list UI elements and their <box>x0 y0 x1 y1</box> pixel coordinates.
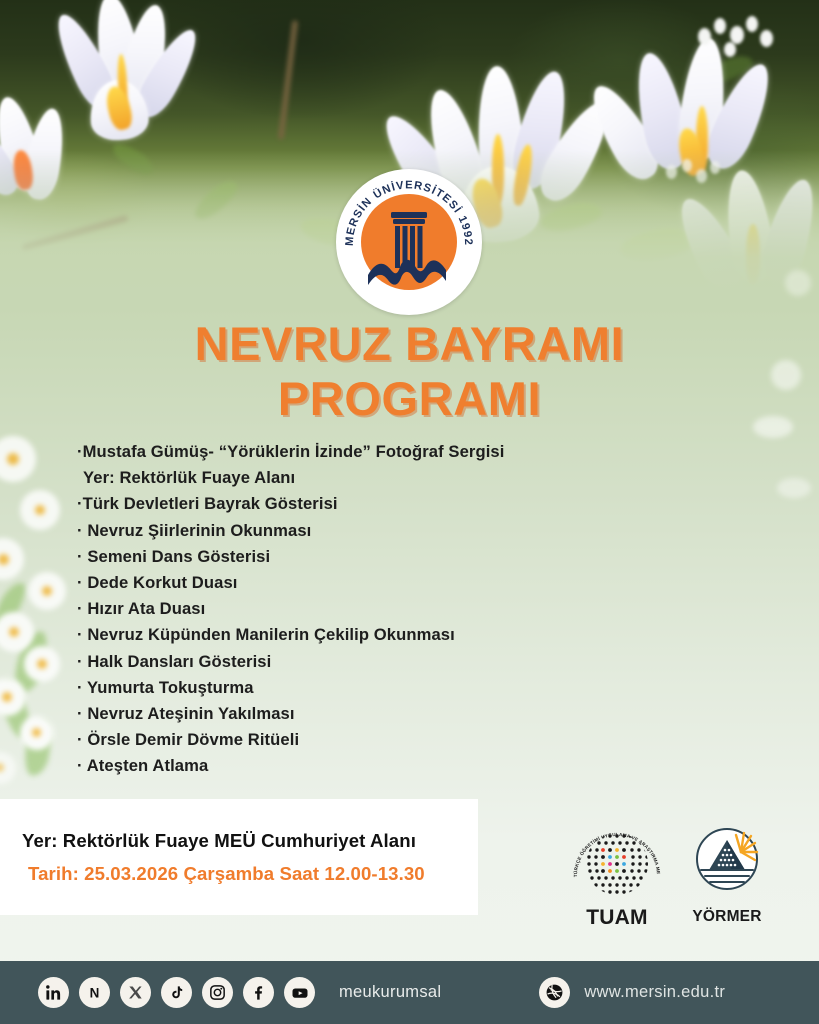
mersin-university-logo: MERSİN ÜNİVERSİTESİ 1992 <box>336 181 483 303</box>
svg-text:N: N <box>90 985 100 1000</box>
program-item: ·Türk Devletleri Bayrak Gösterisi <box>77 496 597 513</box>
social-handle: meukurumsal <box>339 983 441 1002</box>
flower-bud-cluster <box>690 10 800 80</box>
program-item: · Nevruz Ateşinin Yakılması <box>77 706 597 723</box>
event-venue: Yer: Rektörlük Fuaye MEÜ Cumhuriyet Alan… <box>22 830 478 852</box>
nsosyal-glyph: N <box>86 984 103 1001</box>
title-line-2: PROGRAMI <box>0 371 819 426</box>
program-item: · Yumurta Tokuşturma <box>77 680 597 697</box>
instagram-glyph <box>209 984 226 1001</box>
program-item: · Ateşten Atlama <box>77 758 597 775</box>
tiktok-icon[interactable] <box>161 977 192 1008</box>
nsosyal-icon[interactable]: N <box>79 977 110 1008</box>
poster-title: NEVRUZ BAYRAMI PROGRAMI <box>0 316 819 427</box>
instagram-icon[interactable] <box>202 977 233 1008</box>
event-info-box: Yer: Rektörlük Fuaye MEÜ Cumhuriyet Alan… <box>0 799 478 915</box>
linkedin-icon[interactable] <box>38 977 69 1008</box>
yormer-logo-graphic <box>681 826 773 900</box>
youtube-glyph <box>291 984 309 1002</box>
social-links: N <box>38 977 441 1008</box>
partner-logos: M.Ü. TÜRKÇE ÖĞRETİMİ UYGULAMA VE ARAŞTIR… <box>565 826 785 926</box>
poster-canvas: MERSİN ÜNİVERSİTESİ 1992 NEVRUZ BAYRAMI … <box>0 0 819 1024</box>
tuam-logo-graphic: M.Ü. TÜRKÇE ÖĞRETİMİ UYGULAMA VE ARAŞTIR… <box>565 826 669 900</box>
logo-graphic: MERSİN ÜNİVERSİTESİ 1992 <box>336 169 482 315</box>
program-item: · Halk Dansları Gösterisi <box>77 654 597 671</box>
program-item: · Hızır Ata Duası <box>77 601 597 618</box>
yormer-logo: YÖRMER <box>681 826 773 926</box>
globe-icon <box>539 977 570 1008</box>
x-twitter-icon[interactable] <box>120 977 151 1008</box>
website-link[interactable]: www.mersin.edu.tr <box>539 977 725 1008</box>
program-item: · Örsle Demir Dövme Ritüeli <box>77 732 597 749</box>
x-glyph <box>128 985 143 1000</box>
tuam-logo: M.Ü. TÜRKÇE ÖĞRETİMİ UYGULAMA VE ARAŞTIR… <box>565 826 669 930</box>
program-item: Yer: Rektörlük Fuaye Alanı <box>77 470 597 487</box>
tuam-caption: TUAM <box>565 906 669 930</box>
program-item: · Nevruz Şiirlerinin Okunması <box>77 523 597 540</box>
program-item: · Semeni Dans Gösterisi <box>77 549 597 566</box>
event-date: Tarih: 25.03.2026 Çarşamba Saat 12.00-13… <box>22 863 478 885</box>
facebook-glyph <box>250 984 267 1001</box>
program-item: ·Mustafa Gümüş- “Yörüklerin İzinde” Foto… <box>77 444 597 461</box>
program-list: ·Mustafa Gümüş- “Yörüklerin İzinde” Foto… <box>77 444 597 784</box>
linkedin-glyph <box>45 984 62 1001</box>
facebook-icon[interactable] <box>243 977 274 1008</box>
youtube-icon[interactable] <box>284 977 315 1008</box>
website-url: www.mersin.edu.tr <box>584 983 725 1002</box>
footer-bar: N <box>0 961 819 1024</box>
tiktok-glyph <box>169 985 185 1001</box>
title-line-1: NEVRUZ BAYRAMI <box>195 317 625 370</box>
program-item: · Nevruz Küpünden Manilerin Çekilip Okun… <box>77 627 597 644</box>
globe-glyph <box>545 983 564 1002</box>
program-item: · Dede Korkut Duası <box>77 575 597 592</box>
yormer-caption: YÖRMER <box>681 908 773 926</box>
